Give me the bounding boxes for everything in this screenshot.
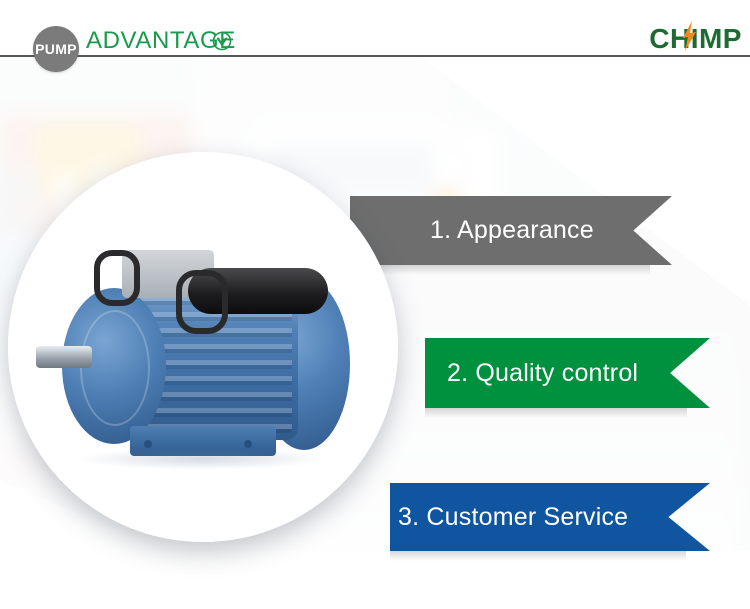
motor-shaft [36,346,92,368]
electric-motor-photo [36,248,370,473]
brand-logo: CHIMP [649,24,742,54]
lightning-bolt-icon [680,21,698,51]
ribbon-shadow [425,408,687,418]
advantage-banner: 1. Appearance 2. Quality control 3. Cust… [0,0,750,609]
ribbon-shadow [350,265,650,275]
ribbon-label: 1. Appearance [430,216,594,245]
ribbon-customer-service[interactable]: 3. Customer Service [390,483,710,551]
ribbon-label: 3. Customer Service [398,503,628,532]
ribbon-shadow [390,551,686,561]
ribbon-quality-control[interactable]: 2. Quality control [425,338,710,408]
check-circle-icon [212,31,232,51]
ribbon-label: 2. Quality control [447,359,638,388]
pump-badge: PUMP [33,26,79,72]
pump-badge-label: PUMP [35,41,77,57]
ribbon-appearance[interactable]: 1. Appearance [350,196,672,265]
header-divider [0,55,750,57]
product-image-circle [8,152,398,542]
